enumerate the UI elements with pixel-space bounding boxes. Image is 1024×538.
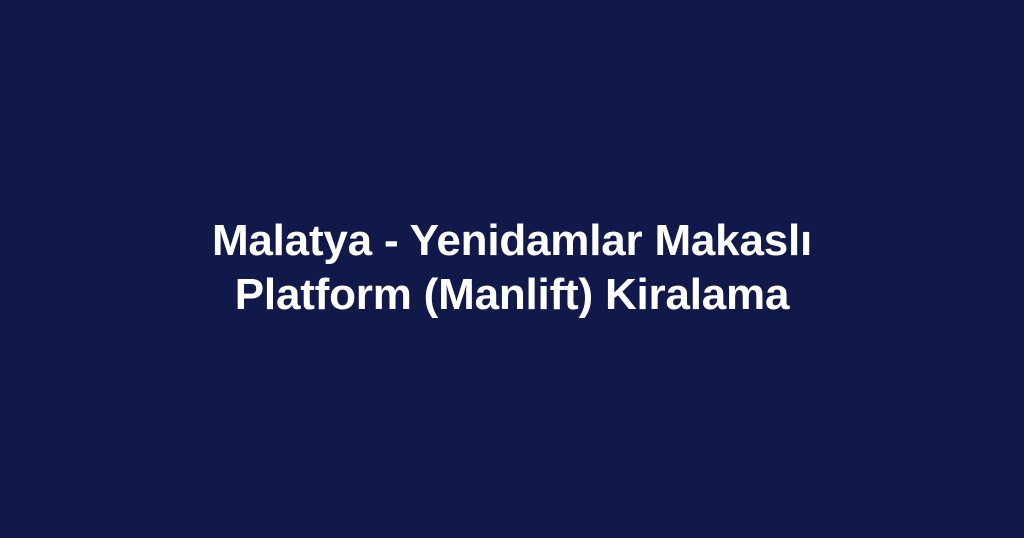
page-title: Malatya - Yenidamlar Makaslı Platform (M…: [188, 214, 836, 322]
banner-title-block: Malatya - Yenidamlar Makaslı Platform (M…: [188, 214, 836, 322]
share-banner: Malatya - Yenidamlar Makaslı Platform (M…: [0, 0, 1024, 538]
